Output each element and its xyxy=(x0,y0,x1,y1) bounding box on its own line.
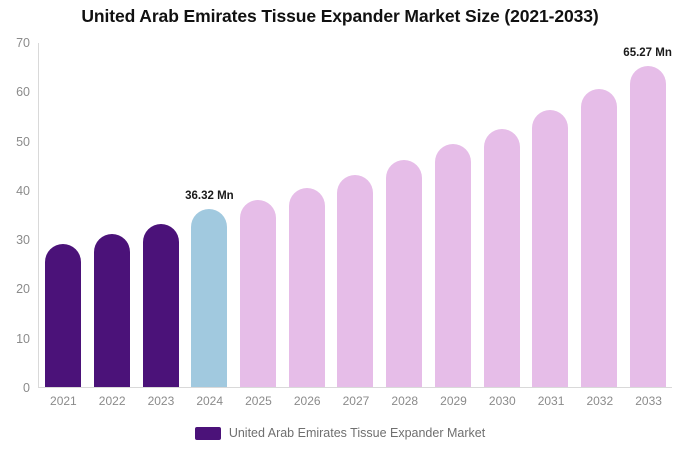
bar-slot xyxy=(477,43,526,387)
bar-group: 36.32 Mn65.27 Mn xyxy=(39,43,672,387)
bar-slot xyxy=(526,43,575,387)
x-axis-tick-label: 2029 xyxy=(429,394,478,408)
bar-slot xyxy=(429,43,478,387)
y-axis-tick-label: 40 xyxy=(16,184,30,198)
x-axis-tick-label: 2021 xyxy=(39,394,88,408)
bar-chart: United Arab Emirates Tissue Expander Mar… xyxy=(0,0,680,450)
x-axis-tick-label: 2033 xyxy=(624,394,673,408)
bar-slot: 36.32 Mn xyxy=(185,43,234,387)
bar-slot xyxy=(88,43,137,387)
x-axis-tick-label: 2026 xyxy=(283,394,332,408)
bar-slot xyxy=(39,43,88,387)
x-axis-ticks: 2021202220232024202520262027202820292030… xyxy=(39,394,673,408)
bar-2022[interactable] xyxy=(94,234,130,387)
bar-2025[interactable] xyxy=(240,200,276,387)
bar-slot xyxy=(234,43,283,387)
x-axis-tick-label: 2030 xyxy=(478,394,527,408)
chart-legend: United Arab Emirates Tissue Expander Mar… xyxy=(0,426,680,440)
bar-slot xyxy=(282,43,331,387)
x-axis-tick-label: 2028 xyxy=(380,394,429,408)
x-axis-tick-label: 2025 xyxy=(234,394,283,408)
bar-slot xyxy=(136,43,185,387)
bar-2024[interactable]: 36.32 Mn xyxy=(191,209,227,387)
bar-2028[interactable] xyxy=(386,160,422,387)
bar-slot xyxy=(331,43,380,387)
legend-color-swatch xyxy=(195,427,221,440)
x-axis-tick-label: 2022 xyxy=(88,394,137,408)
legend-item[interactable]: United Arab Emirates Tissue Expander Mar… xyxy=(195,426,485,440)
bar-value-label: 65.27 Mn xyxy=(623,47,672,59)
bar-2030[interactable] xyxy=(484,129,520,387)
bar-2032[interactable] xyxy=(581,89,617,387)
bar-2023[interactable] xyxy=(143,224,179,387)
bar-slot xyxy=(380,43,429,387)
plot-area: 706050403020100 36.32 Mn65.27 Mn xyxy=(38,43,672,388)
bar-value-label: 36.32 Mn xyxy=(185,190,234,202)
y-axis-tick-label: 0 xyxy=(23,381,30,395)
bar-2027[interactable] xyxy=(337,175,373,387)
bar-slot xyxy=(575,43,624,387)
bar-2029[interactable] xyxy=(435,144,471,387)
x-axis-tick-label: 2032 xyxy=(575,394,624,408)
y-axis-tick-label: 50 xyxy=(16,135,30,149)
x-axis-tick-label: 2027 xyxy=(332,394,381,408)
bar-2033[interactable]: 65.27 Mn xyxy=(630,66,666,387)
bar-2021[interactable] xyxy=(45,244,81,387)
bar-2031[interactable] xyxy=(532,110,568,387)
y-axis-tick-label: 70 xyxy=(16,36,30,50)
y-axis-tick-label: 20 xyxy=(16,282,30,296)
y-axis-tick-label: 60 xyxy=(16,85,30,99)
x-axis-line xyxy=(38,387,672,388)
y-axis-tick-label: 30 xyxy=(16,233,30,247)
x-axis-tick-label: 2031 xyxy=(527,394,576,408)
bar-2026[interactable] xyxy=(289,188,325,387)
chart-title: United Arab Emirates Tissue Expander Mar… xyxy=(0,6,680,27)
legend-label: United Arab Emirates Tissue Expander Mar… xyxy=(229,426,485,440)
x-axis-tick-label: 2024 xyxy=(185,394,234,408)
y-axis-tick-label: 10 xyxy=(16,332,30,346)
x-axis-tick-label: 2023 xyxy=(137,394,186,408)
bar-slot: 65.27 Mn xyxy=(623,43,672,387)
